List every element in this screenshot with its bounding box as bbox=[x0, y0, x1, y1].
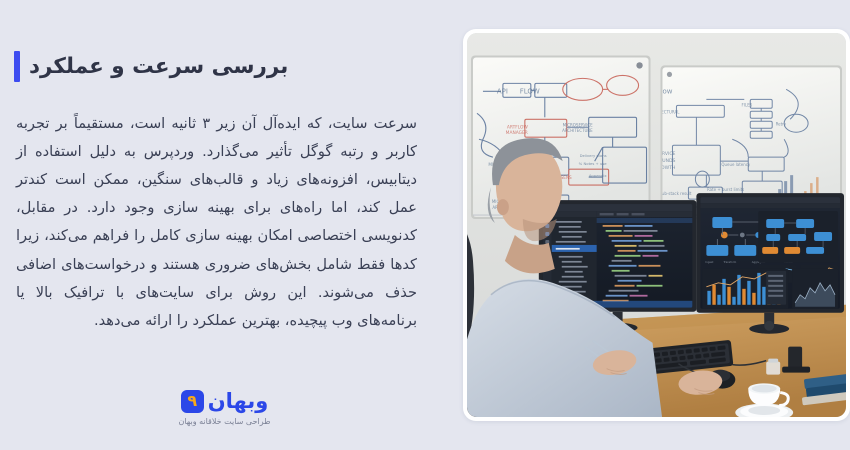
svg-text:Delivery plans: Delivery plans bbox=[580, 153, 607, 158]
workspace-photo: APIFLOW ARTFLOW MANAGER MICROSERVICE ART… bbox=[467, 33, 846, 417]
svg-text:Transform: Transform bbox=[723, 260, 736, 264]
svg-text:Retry: Retry bbox=[776, 121, 787, 126]
svg-text:ARTFLOW: ARTFLOW bbox=[507, 124, 529, 130]
photo-frame: APIFLOW ARTFLOW MANAGER MICROSERVICE ART… bbox=[463, 29, 850, 421]
svg-text:MANAGER: MANAGER bbox=[506, 130, 528, 136]
svg-text:Notes + use %: Notes + use % bbox=[579, 161, 608, 166]
svg-text:Ingest: Ingest bbox=[705, 260, 713, 264]
article-card: بررسی سرعت و عملکرد سرعت سایت، که ایده‌آ… bbox=[0, 0, 850, 450]
brand-logo[interactable]: ۹ وبهان طراحی سایت خلاقانه وبهان bbox=[10, 390, 421, 440]
logo-row: ۹ وبهان bbox=[181, 390, 269, 413]
logo-wordmark: وبهان bbox=[208, 391, 269, 412]
svg-text:FILES: FILES bbox=[742, 102, 753, 107]
svg-text:Queue latency: Queue latency bbox=[721, 162, 751, 167]
title-row: بررسی سرعت و عملکرد bbox=[10, 40, 421, 94]
svg-text:Rate + burst limits: Rate + burst limits bbox=[707, 187, 744, 192]
svg-text:ARCHITECTURE: ARCHITECTURE bbox=[562, 128, 593, 133]
svg-text:FLOW: FLOW bbox=[520, 87, 540, 95]
logo-glyph: ۹ bbox=[187, 393, 197, 409]
photo-column: APIFLOW ARTFLOW MANAGER MICROSERVICE ART… bbox=[435, 0, 850, 450]
svg-text:API: API bbox=[497, 87, 508, 95]
svg-text:MICROSERVICE: MICROSERVICE bbox=[563, 122, 593, 127]
svg-text:Sub-stack result: Sub-stack result bbox=[659, 191, 691, 196]
page-title: بررسی سرعت و عملکرد bbox=[29, 54, 288, 79]
title-accent-bar bbox=[14, 51, 20, 82]
svg-text:Appendix: Appendix bbox=[589, 173, 608, 178]
logo-mark-icon: ۹ bbox=[181, 390, 204, 413]
text-column: بررسی سرعت و عملکرد سرعت سایت، که ایده‌آ… bbox=[0, 0, 435, 450]
article-body: سرعت سایت، که ایده‌آل آن زیر ۳ ثانیه است… bbox=[10, 110, 421, 335]
logo-tagline: طراحی سایت خلاقانه وبهان bbox=[178, 417, 270, 426]
